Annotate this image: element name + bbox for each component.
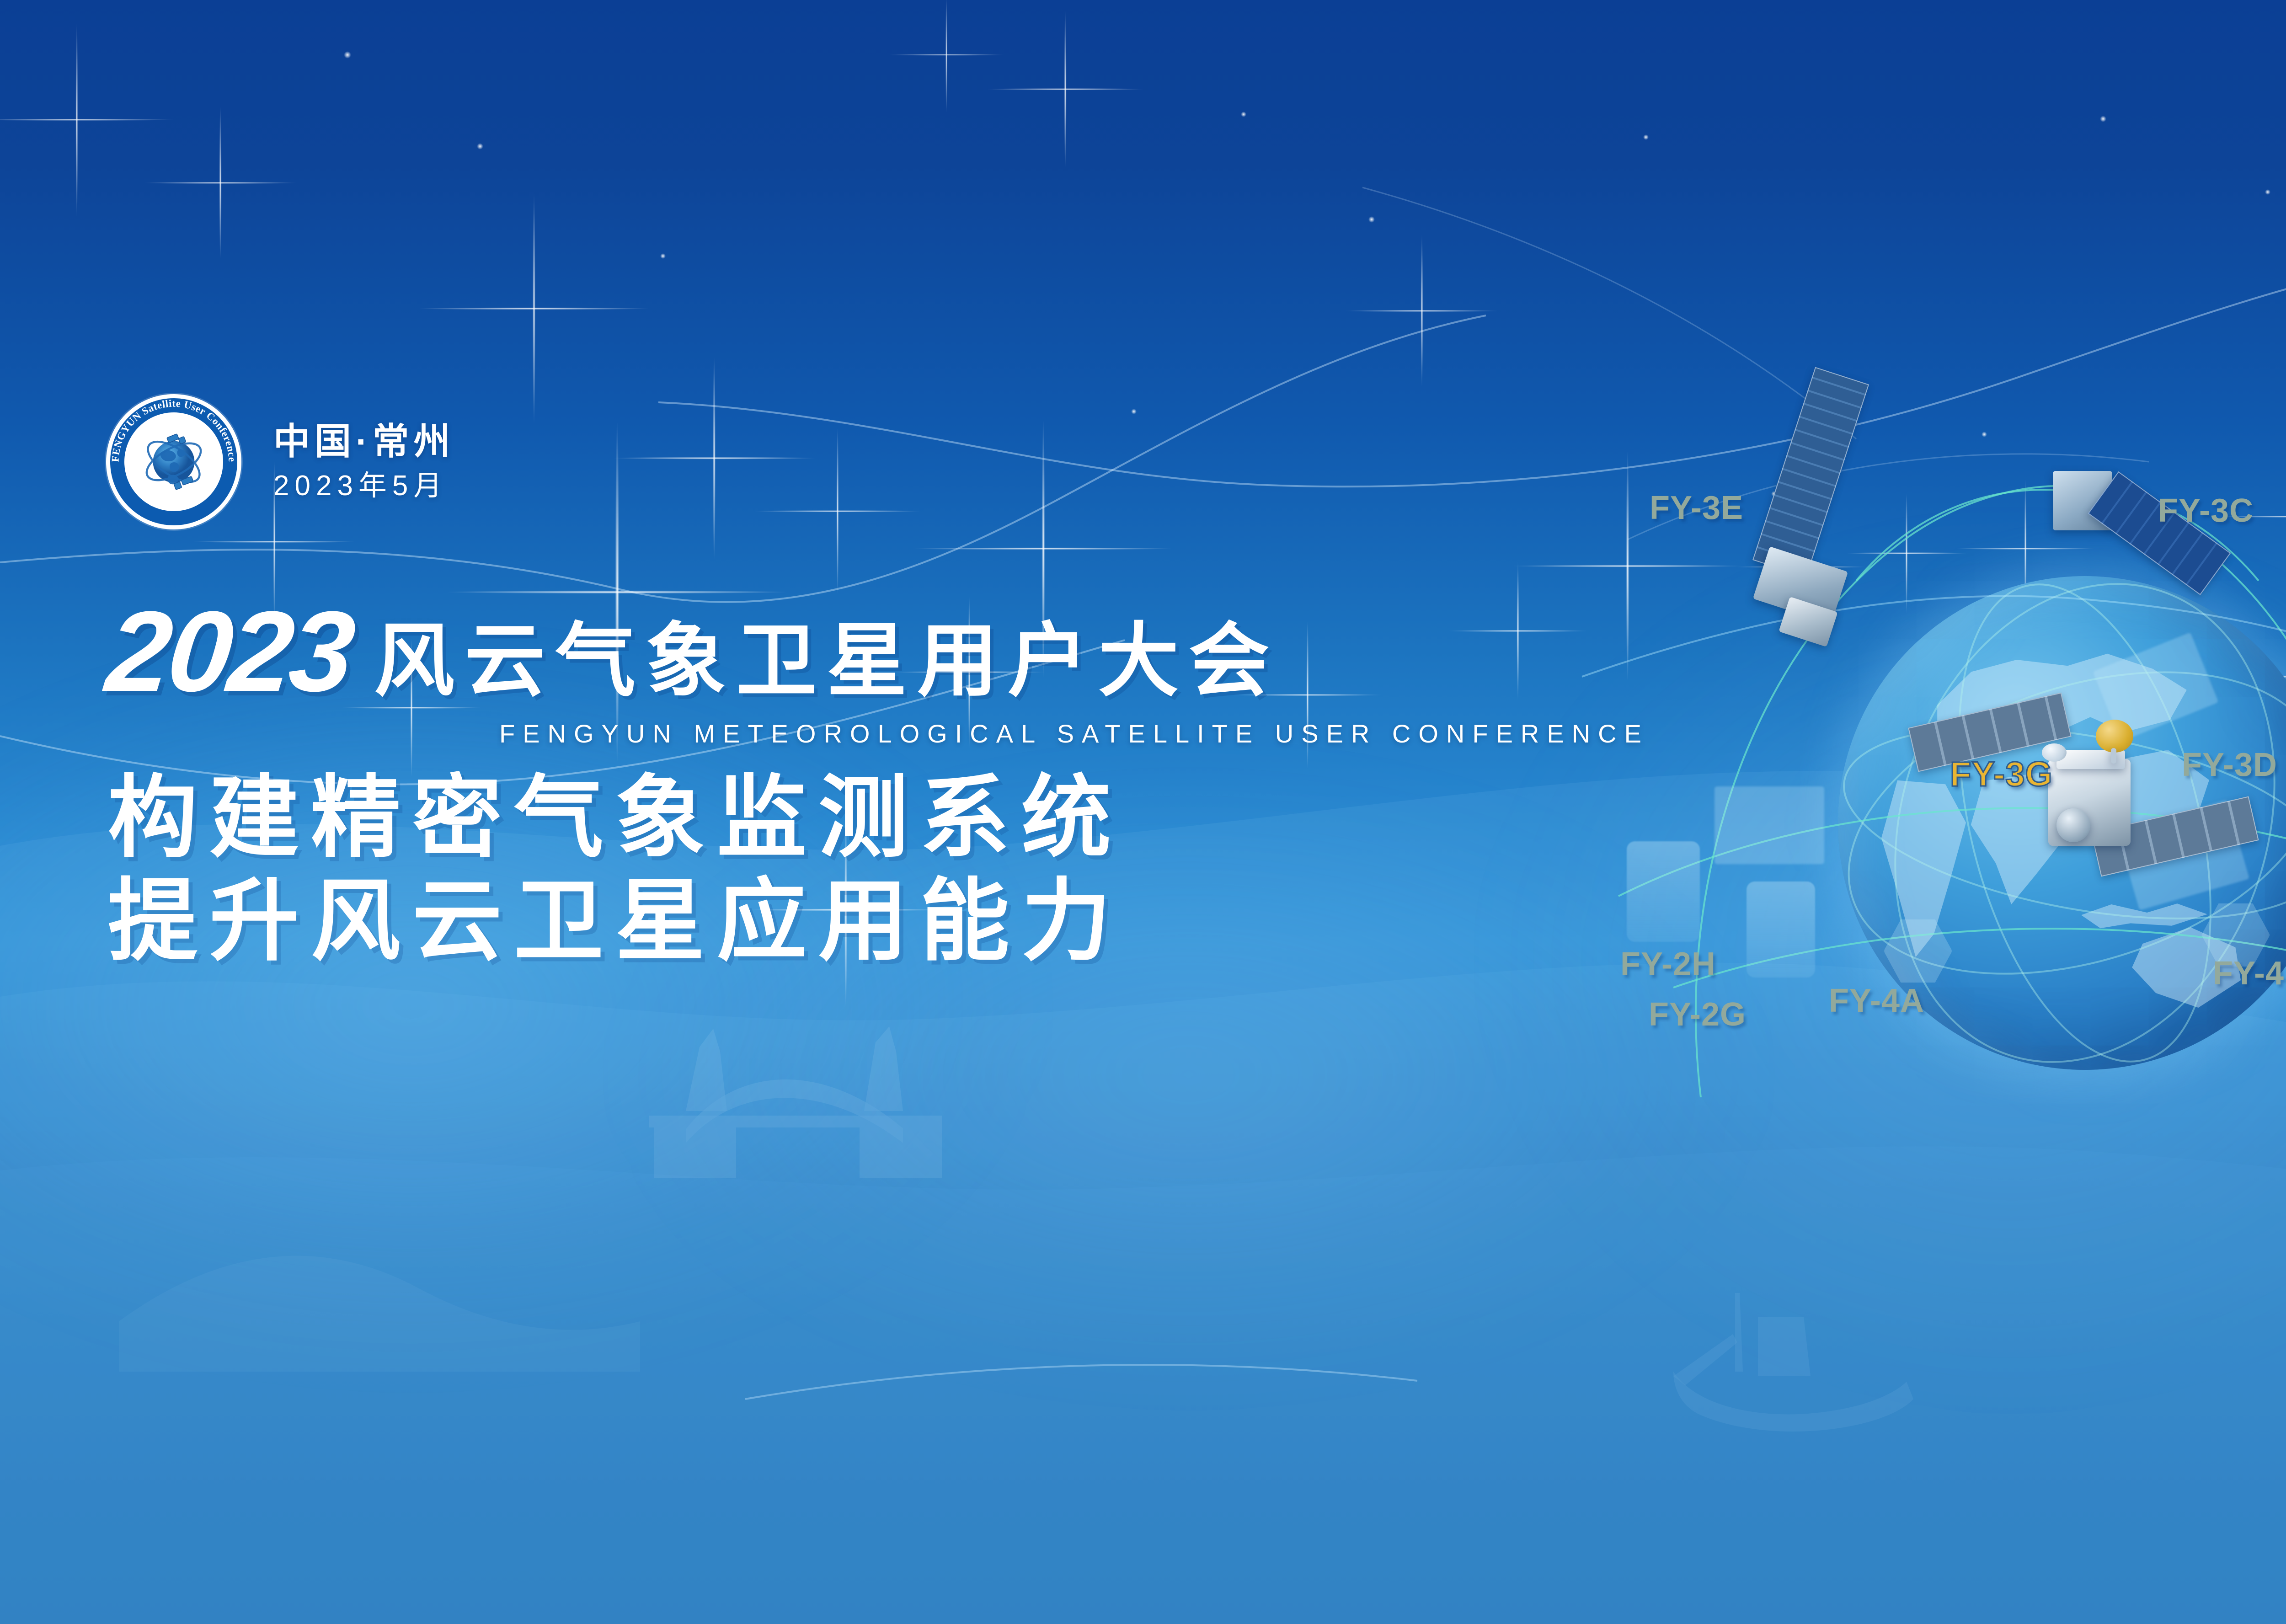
star-dot [2100,116,2106,122]
ghost-satellite-panel-left [1714,786,1824,864]
satellite-label-fy3c: FY-3C [2158,492,2254,529]
conference-seal-logo: FENGYUN Satellite User Conference Changz… [106,394,241,529]
fy3g-antenna-mast [2111,748,2116,764]
event-city-label: 中国·常州 [273,423,455,460]
seal-globe-emblem [141,434,207,490]
satellite-label-fy4b: FY-4B [2213,955,2286,992]
title-english: FENGYUN METEOROLOGICAL SATELLITE USER CO… [499,719,1708,748]
satellite-label-fy3d: FY-3D [2182,746,2277,784]
ghost-satellite-fy2h [1627,841,1700,942]
seal-arc-bottom-text: Changzhou China · 2023 [135,487,213,512]
star-dot [1368,216,1375,223]
satellite-fy3c [2048,453,2259,613]
slogan-line-2: 提升风云卫星应用能力 [108,871,1708,972]
main-title-row: 2023 风云气象卫星用户大会 [108,594,1708,709]
satellite-label-fy3e: FY-3E [1650,489,1743,527]
star-dot [2265,189,2270,195]
seal-artwork: FENGYUN Satellite User Conference Changz… [106,394,241,529]
title-chinese: 风云气象卫星用户大会 [374,621,1279,709]
satellite-label-fy2h: FY-2H [1620,946,1716,983]
star-dot [1241,112,1246,117]
ghost-satellite-fy2g [1747,881,1815,978]
star-dot [1643,134,1649,140]
fy3g-antenna-dish [2096,720,2133,753]
fy3g-sensor-drum [2056,808,2090,842]
fy3c-solar-panel [2088,471,2231,595]
star-dot [1131,409,1137,414]
title-block: 2023 风云气象卫星用户大会 FENGYUN METEOROLOGICAL S… [108,594,1708,971]
satellite-constellation-scene: FY-3E FY-3C FY-3D FY-3G FY-2H FY-2G FY-4… [1564,384,2286,1161]
satellite-label-fy3g: FY-3G [1950,754,2053,794]
satellite-fy3g [1911,700,2259,896]
svg-text:Changzhou China · 2023: Changzhou China · 2023 [135,487,213,512]
star-dot [344,51,351,59]
event-place-and-date: 中国·常州 2023年5月 [273,423,455,500]
satellite-label-fy2g: FY-2G [1649,996,1746,1033]
conference-poster: FENGYUN Satellite User Conference Changz… [0,0,2286,1624]
slogan-line-1: 构建精密气象监测系统 [108,768,1708,868]
star-dot [660,253,666,259]
star-dot [477,143,483,150]
fy3e-solar-panel [1752,367,1869,578]
event-header: FENGYUN Satellite User Conference Changz… [106,394,455,529]
satellite-label-fy4a: FY-4A [1829,982,1924,1020]
event-date-label: 2023年5月 [273,472,455,500]
title-year: 2023 [102,594,357,709]
